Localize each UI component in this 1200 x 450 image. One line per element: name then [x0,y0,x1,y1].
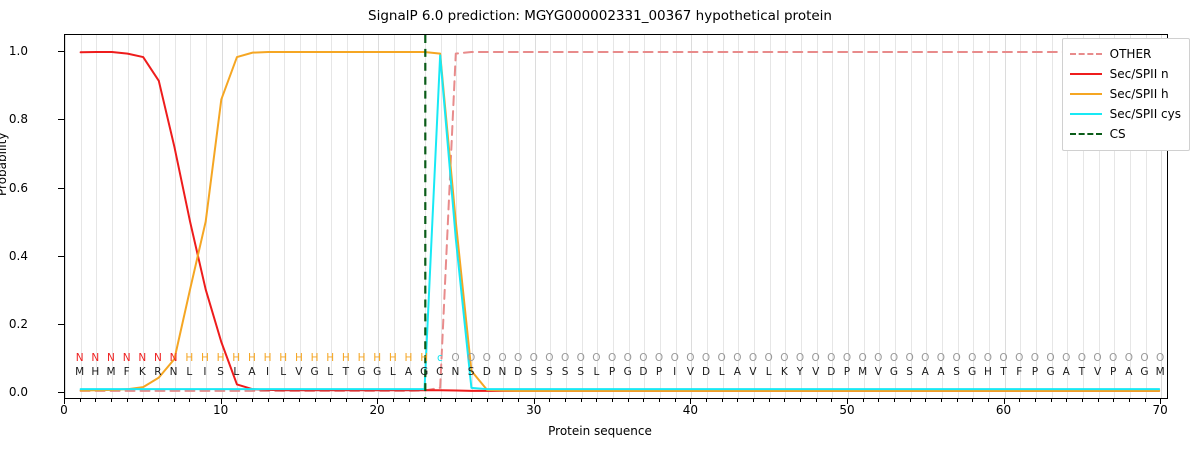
x-tick-mark [1145,399,1146,402]
x-tick-mark [612,399,613,402]
region-label: O [1031,352,1039,364]
region-label: H [420,352,428,364]
region-label: O [1046,352,1054,364]
residue-label: V [687,366,694,378]
chart-title: SignalP 6.0 prediction: MGYG000002331_00… [0,8,1200,24]
region-label: H [185,352,193,364]
y-axis-label: Probability [0,133,9,196]
region-label: H [389,352,397,364]
x-tick-mark [1066,399,1067,402]
region-label: O [592,352,600,364]
region-label: O [843,352,851,364]
residue-label: A [937,366,944,378]
residue-label: L [327,366,333,378]
residue-label: P [656,366,662,378]
x-tick-mark [268,399,269,402]
x-tick-mark [330,399,331,402]
legend-item[interactable]: Sec/SPII n [1070,64,1181,84]
residue-label: G [624,366,632,378]
residue-label: A [1063,366,1070,378]
residue-label: S [906,366,913,378]
x-tick-mark [393,399,394,402]
region-label: O [451,352,459,364]
x-tick-mark [706,399,707,402]
region-label: O [686,352,694,364]
residue-label: D [514,366,522,378]
region-label: O [718,352,726,364]
residue-label: A [1125,366,1132,378]
legend-item[interactable]: Sec/SPII cys [1070,104,1181,124]
x-tick-mark [831,399,832,402]
residue-label: G [310,366,318,378]
region-label: O [749,352,757,364]
x-tick-mark [455,399,456,402]
region-label: O [608,352,616,364]
x-tick-mark [769,399,770,402]
region-label: c [437,352,443,364]
x-tick-mark [174,399,175,402]
series-line [81,52,1160,391]
series-line [81,52,1160,391]
region-label: O [733,352,741,364]
series-line [81,55,1160,389]
region-label: O [655,352,663,364]
legend-label: CS [1110,127,1126,141]
x-tick-mark [565,399,566,402]
residue-label: P [1032,366,1038,378]
residue-label: D [483,366,491,378]
legend[interactable]: OTHERSec/SPII nSec/SPII hSec/SPII cysCS [1062,38,1190,151]
region-label: H [326,352,334,364]
x-tick-mark [659,399,660,402]
residue-label: S [217,366,224,378]
x-tick-mark [925,399,926,402]
x-tick-mark [957,399,958,402]
region-label: N [91,352,99,364]
residue-label: L [593,366,599,378]
x-tick-mark [675,399,676,402]
residue-label: M [858,366,867,378]
x-tick-mark [816,399,817,402]
region-label: H [311,352,319,364]
residue-label: V [295,366,302,378]
x-tick-mark [1098,399,1099,402]
plot-area [64,34,1168,399]
x-tick-mark [362,399,363,402]
x-tick-mark [1035,399,1036,402]
legend-item[interactable]: CS [1070,124,1181,144]
residue-label: S [530,366,537,378]
x-tick-mark [158,399,159,402]
region-label: H [342,352,350,364]
x-tick-label: 0 [60,403,68,417]
x-tick-label: 30 [526,403,541,417]
x-tick-mark [628,399,629,402]
region-label: O [561,352,569,364]
y-tick-label: 0.4 [9,249,28,263]
x-tick-mark [518,399,519,402]
residue-label: G [420,366,428,378]
region-label: O [1109,352,1117,364]
residue-label: P [1110,366,1116,378]
legend-swatch-icon [1070,128,1102,140]
region-label: O [577,352,585,364]
y-tick-label: 0.6 [9,181,28,195]
residue-label: V [875,366,882,378]
residue-label: I [266,366,269,378]
residue-label: S [562,366,569,378]
residue-label: D [702,366,710,378]
residue-label: L [186,366,192,378]
x-tick-mark [1019,399,1020,402]
region-label: O [827,352,835,364]
residue-label: M [1156,366,1165,378]
region-label: O [858,352,866,364]
region-label: O [1140,352,1148,364]
x-tick-mark [1113,399,1114,402]
region-label: O [780,352,788,364]
residue-label: I [203,366,206,378]
region-label: O [812,352,820,364]
region-label: O [467,352,475,364]
x-tick-mark [581,399,582,402]
region-label: O [952,352,960,364]
legend-swatch-icon [1070,48,1102,60]
residue-label: P [609,366,615,378]
x-tick-mark [409,399,410,402]
residue-label: S [577,366,584,378]
x-tick-mark [972,399,973,402]
region-label: O [639,352,647,364]
residue-label: D [639,366,647,378]
residue-label: S [546,366,553,378]
region-label: H [232,352,240,364]
x-tick-mark [111,399,112,402]
x-tick-mark [1082,399,1083,402]
residue-label: T [343,366,349,378]
region-label: O [937,352,945,364]
region-label: H [248,352,256,364]
region-label: O [514,352,522,364]
region-label: O [545,352,553,364]
region-label: O [984,352,992,364]
x-tick-mark [252,399,253,402]
x-tick-label: 10 [213,403,228,417]
x-tick-mark [878,399,879,402]
x-tick-mark [142,399,143,402]
x-tick-mark [1051,399,1052,402]
region-label: O [498,352,506,364]
region-label: H [279,352,287,364]
region-label: O [1093,352,1101,364]
region-label: H [358,352,366,364]
region-label: O [890,352,898,364]
x-tick-label: 20 [370,403,385,417]
x-tick-mark [737,399,738,402]
x-tick-mark [205,399,206,402]
region-label: O [702,352,710,364]
residue-label: G [890,366,898,378]
residue-label: K [781,366,788,378]
x-tick-mark [299,399,300,402]
x-tick-mark [784,399,785,402]
region-label: N [123,352,131,364]
x-tick-mark [80,399,81,402]
sequence-row: MHMFKRNLISLAILVGLTGGLAGCNSDNDSSSSLPGDPIV… [0,366,1200,380]
region-label: O [1062,352,1070,364]
residue-label: P [844,366,850,378]
residue-label: T [1079,366,1085,378]
region-label: O [765,352,773,364]
x-tick-mark [346,399,347,402]
region-label: O [671,352,679,364]
x-tick-mark [863,399,864,402]
region-label: H [201,352,209,364]
region-label: O [874,352,882,364]
residue-label: G [373,366,381,378]
x-tick-mark [95,399,96,402]
residue-label: G [357,366,365,378]
legend-swatch-icon [1070,68,1102,80]
region-label: O [1015,352,1023,364]
residue-label: G [1140,366,1148,378]
x-tick-label: 70 [1153,403,1168,417]
residue-label: M [75,366,84,378]
x-tick-mark [471,399,472,402]
region-label: H [295,352,303,364]
x-tick-mark [941,399,942,402]
x-tick-mark [596,399,597,402]
x-tick-mark [127,399,128,402]
region-label: H [217,352,225,364]
legend-item[interactable]: OTHER [1070,44,1181,64]
region-label: N [76,352,84,364]
series-lines [65,35,1167,398]
x-tick-mark [643,399,644,402]
residue-label: A [734,366,741,378]
region-label: O [624,352,632,364]
region-annotation-row: NNNNNNNHHHHHHHHHHHHHHHHcOOOOOOOOOOOOOOOO… [0,352,1200,366]
residue-label: L [719,366,725,378]
region-label: O [968,352,976,364]
x-tick-mark [1129,399,1130,402]
region-label: O [999,352,1007,364]
residue-label: F [124,366,130,378]
x-tick-label: 40 [683,403,698,417]
region-label: N [154,352,162,364]
residue-label: Y [797,366,803,378]
x-tick-label: 50 [839,403,854,417]
x-tick-mark [487,399,488,402]
x-tick-mark [440,399,441,402]
region-label: N [170,352,178,364]
x-tick-mark [910,399,911,402]
residue-label: C [436,366,443,378]
x-tick-mark [283,399,284,402]
residue-label: N [499,366,507,378]
legend-label: Sec/SPII n [1110,67,1169,81]
x-tick-label: 60 [996,403,1011,417]
residue-label: M [106,366,115,378]
x-axis-label: Protein sequence [0,424,1200,438]
residue-label: T [1000,366,1006,378]
legend-swatch-icon [1070,88,1102,100]
region-label: O [905,352,913,364]
residue-label: N [170,366,178,378]
y-tick-label: 0.8 [9,112,28,126]
x-tick-mark [424,399,425,402]
legend-label: Sec/SPII cys [1110,107,1181,121]
region-label: H [405,352,413,364]
x-tick-mark [236,399,237,402]
x-tick-mark [189,399,190,402]
residue-label: K [139,366,146,378]
region-label: O [1156,352,1164,364]
residue-label: G [968,366,976,378]
residue-label: F [1016,366,1022,378]
region-label: N [107,352,115,364]
region-label: O [530,352,538,364]
region-label: O [796,352,804,364]
x-tick-mark [894,399,895,402]
x-tick-mark [549,399,550,402]
y-tick-label: 1.0 [9,44,28,58]
region-label: H [264,352,272,364]
x-tick-mark [502,399,503,402]
legend-item[interactable]: Sec/SPII h [1070,84,1181,104]
legend-label: Sec/SPII h [1110,87,1169,101]
residue-label: I [673,366,676,378]
region-label: O [1078,352,1086,364]
region-label: O [1125,352,1133,364]
series-line [81,52,1160,391]
residue-label: L [280,366,286,378]
residue-label: H [984,366,992,378]
residue-label: A [405,366,412,378]
residue-label: R [154,366,161,378]
region-label: H [373,352,381,364]
x-tick-mark [800,399,801,402]
residue-label: A [922,366,929,378]
legend-swatch-icon [1070,108,1102,120]
residue-label: S [468,366,475,378]
residue-label: D [827,366,835,378]
residue-label: H [91,366,99,378]
residue-label: V [812,366,819,378]
region-label: N [138,352,146,364]
legend-label: OTHER [1110,47,1152,61]
residue-label: S [953,366,960,378]
x-tick-mark [988,399,989,402]
residue-label: L [390,366,396,378]
region-label: O [921,352,929,364]
region-label: O [483,352,491,364]
x-tick-mark [315,399,316,402]
residue-label: V [1094,366,1101,378]
residue-label: G [1046,366,1054,378]
y-tick-label: 0.0 [9,385,28,399]
x-tick-mark [722,399,723,402]
x-tick-mark [753,399,754,402]
residue-label: V [749,366,756,378]
residue-label: L [766,366,772,378]
y-tick-label: 0.2 [9,317,28,331]
residue-label: L [233,366,239,378]
residue-label: N [452,366,460,378]
residue-label: A [248,366,255,378]
